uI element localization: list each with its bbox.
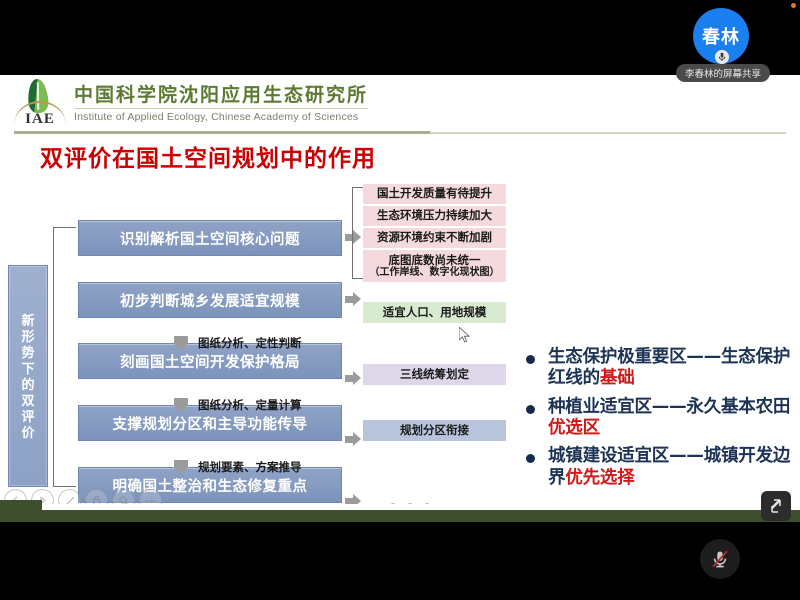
bullet-text: 种植业适宜区——永久基本农田 (548, 397, 790, 417)
list-item: 生态保护极重要区——生态保护红线的基础 (524, 347, 792, 390)
vlabel-char: 势 (21, 346, 34, 359)
problem-box: 生态环境压力持续加大 (363, 206, 506, 226)
bullet-highlight: 基础 (600, 368, 635, 388)
step-caption: 图纸分析、定性判断 (198, 335, 302, 351)
flow-stage-box: 识别解析国土空间核心问题 (78, 220, 342, 256)
header-rule (14, 131, 430, 134)
problem-box-sublabel: （工作岸线、数字化现状图） (370, 267, 500, 279)
institute-name-block: 中国科学院沈阳应用生态研究所 Institute of Applied Ecol… (74, 85, 368, 123)
step-caption: 规划要素、方案推导 (198, 459, 302, 475)
vlabel-char: 价 (21, 426, 34, 439)
institute-name-en: Institute of Applied Ecology, Chinese Ac… (74, 108, 368, 123)
slide-footer-tab (0, 500, 42, 518)
list-item: 城镇建设适宜区——城镇开发边界优先选择 (524, 446, 792, 489)
mouse-cursor (459, 327, 469, 342)
arrow-down-icon (170, 336, 192, 350)
bullet-highlight: 优选区 (548, 418, 600, 438)
institute-logo: IAE 中国科学院沈阳应用生态研究所 Institute of Applied … (14, 79, 368, 129)
bullet-highlight: 优先选择 (565, 468, 634, 488)
microphone-muted-icon[interactable] (700, 539, 740, 579)
slide-title: 双评价在国土空间规划中的作用 (40, 139, 376, 173)
presentation-slide: IAE 中国科学院沈阳应用生态研究所 Institute of Applied … (0, 75, 800, 504)
microphone-icon (715, 50, 729, 64)
step-caption: 图纸分析、定量计算 (198, 397, 302, 413)
flow-step-annotation: 图纸分析、定性判断 (170, 335, 302, 351)
vlabel-char: 新 (21, 314, 34, 327)
arrow-down-icon (170, 398, 192, 412)
institute-name-cn: 中国科学院沈阳应用生态研究所 (74, 85, 368, 107)
flow-step-annotation: 图纸分析、定量计算 (170, 397, 302, 413)
problem-list-bracket (352, 187, 363, 279)
vlabel-char: 下 (21, 362, 34, 375)
problem-box: 底图底数尚未统一 （工作岸线、数字化现状图） (363, 250, 506, 282)
expand-arrow-icon[interactable] (761, 491, 791, 521)
iae-logo-mark: IAE (14, 79, 66, 129)
meeting-screen: IAE 中国科学院沈阳应用生态研究所 Institute of Applied … (0, 0, 800, 600)
problem-box: 国土开发质量有待提升 (363, 184, 506, 204)
vertical-context-label: 新 形 势 下 的 双 评 价 (8, 265, 48, 487)
header-rule-secondary (430, 132, 786, 134)
key-points-list: 生态保护极重要区——生态保护红线的基础 种植业适宜区——永久基本农田优选区 城镇… (524, 347, 792, 496)
screen-share-label: 李春林的屏幕共享 (676, 64, 770, 82)
vlabel-char: 评 (21, 410, 34, 423)
output-box: 适宜人口、用地规模 (363, 302, 506, 323)
flow-stage-box: 初步判断城乡发展适宜规模 (78, 282, 342, 318)
vlabel-char: 的 (21, 378, 34, 391)
flow-bracket-left (53, 227, 76, 487)
vlabel-char: 形 (21, 330, 34, 343)
arrow-right-icon (345, 371, 361, 385)
orange-status-dot (791, 3, 796, 8)
bullet-text: 生态保护极重要区——生态保护红线的 (548, 347, 790, 388)
problem-box-label: 底图底数尚未统一 (389, 254, 481, 267)
output-box: 规划分区衔接 (363, 420, 506, 441)
arrow-right-icon (345, 432, 361, 446)
output-box: 三线统筹划定 (363, 364, 506, 385)
slide-footer-band (0, 510, 800, 522)
arrow-down-icon (170, 460, 192, 474)
problem-box: 资源环境约束不断加剧 (363, 228, 506, 248)
shared-screen-region[interactable]: IAE 中国科学院沈阳应用生态研究所 Institute of Applied … (0, 75, 800, 522)
participant-tile[interactable]: 春林 (693, 8, 749, 64)
vlabel-char: 双 (21, 394, 34, 407)
flow-step-annotation: 规划要素、方案推导 (170, 459, 302, 475)
logo-acronym: IAE (14, 111, 66, 128)
list-item: 种植业适宜区——永久基本农田优选区 (524, 397, 792, 440)
arrow-right-icon (345, 292, 361, 306)
slide-header: IAE 中国科学院沈阳应用生态研究所 Institute of Applied … (0, 75, 800, 131)
